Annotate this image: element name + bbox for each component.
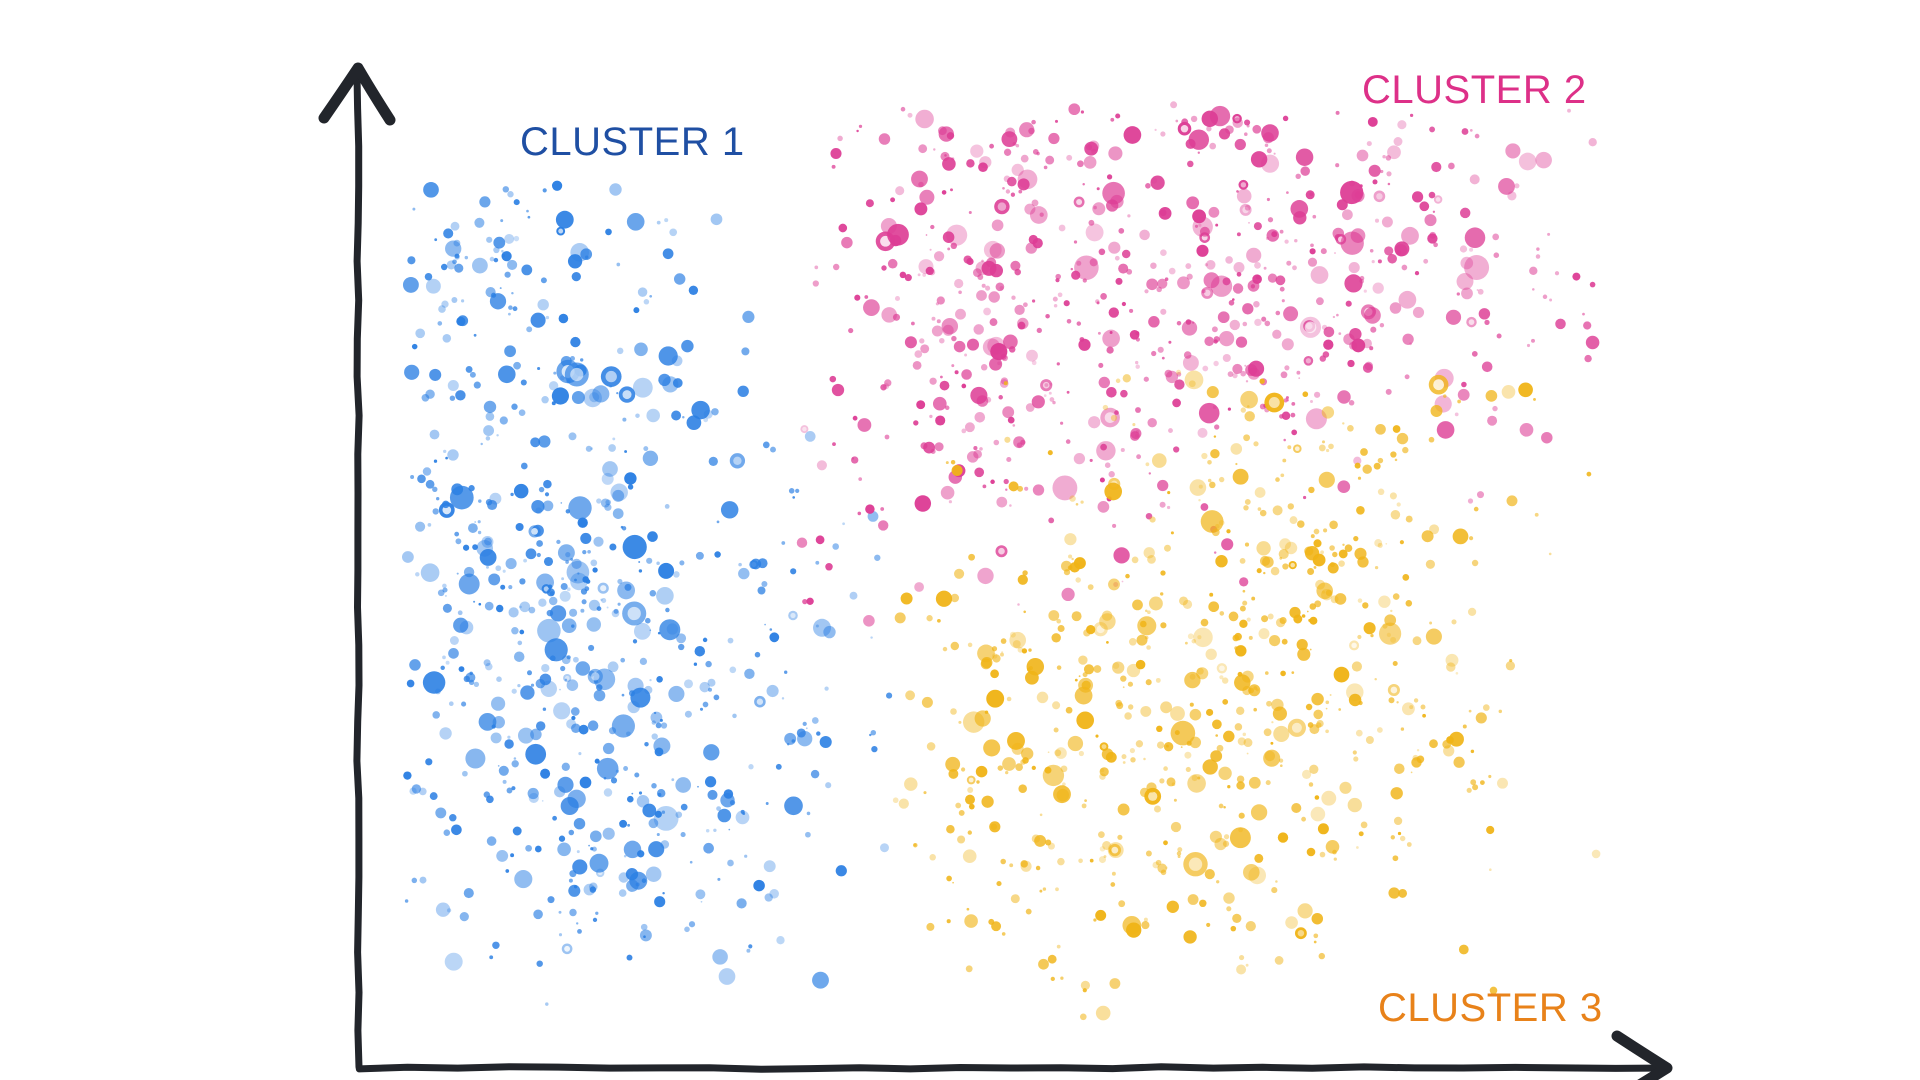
data-point-highlight xyxy=(998,202,1006,210)
data-point xyxy=(1150,262,1156,268)
data-point xyxy=(1297,639,1308,650)
data-point xyxy=(578,752,581,755)
data-point xyxy=(641,924,648,931)
data-point xyxy=(870,636,872,638)
data-point-highlight xyxy=(1295,446,1300,451)
data-point xyxy=(1494,252,1500,258)
data-point xyxy=(1095,910,1106,921)
data-point-satellite xyxy=(1396,701,1398,703)
data-point-highlight xyxy=(570,368,583,381)
data-point-satellite xyxy=(939,338,944,343)
data-point xyxy=(1307,568,1314,575)
data-point xyxy=(1127,664,1140,677)
data-point xyxy=(556,211,574,229)
data-point xyxy=(1422,714,1426,718)
data-point xyxy=(519,630,524,635)
data-point xyxy=(970,144,983,157)
data-point xyxy=(1000,859,1006,865)
cluster-2-label: CLUSTER 2 xyxy=(1362,68,1587,113)
data-point xyxy=(1206,709,1213,716)
data-point-satellite xyxy=(858,512,862,516)
data-point-satellite xyxy=(587,550,591,554)
data-point xyxy=(1448,163,1455,170)
data-point xyxy=(1470,779,1476,785)
data-point xyxy=(1382,623,1387,628)
data-point xyxy=(1038,959,1049,970)
data-point xyxy=(977,274,983,280)
data-point xyxy=(572,272,581,281)
data-point xyxy=(1078,655,1087,664)
data-point xyxy=(832,384,844,396)
data-point xyxy=(929,854,935,860)
data-point xyxy=(415,522,425,532)
data-point xyxy=(988,291,999,302)
data-point xyxy=(1157,480,1168,491)
data-point xyxy=(1209,207,1220,218)
data-point xyxy=(1220,611,1225,616)
data-point xyxy=(1179,596,1188,605)
data-point xyxy=(1212,719,1222,729)
data-point-highlight xyxy=(1292,723,1302,733)
data-point xyxy=(1106,346,1113,353)
data-point xyxy=(1100,477,1105,482)
data-point xyxy=(659,346,678,365)
data-point xyxy=(1233,283,1243,293)
data-point xyxy=(1225,256,1233,264)
data-point xyxy=(1132,600,1143,611)
data-point xyxy=(1219,128,1230,139)
data-point-highlight xyxy=(1469,319,1475,325)
data-point xyxy=(806,598,813,605)
data-point xyxy=(441,301,448,308)
data-point xyxy=(678,644,684,650)
data-point xyxy=(1321,248,1327,254)
data-point-satellite xyxy=(940,376,943,379)
data-point xyxy=(1005,771,1008,774)
data-point-satellite xyxy=(649,679,651,681)
data-point-highlight xyxy=(1391,687,1398,694)
data-point xyxy=(1048,955,1057,964)
data-point xyxy=(584,884,596,896)
data-point xyxy=(407,256,415,264)
data-point xyxy=(1239,813,1245,819)
data-point xyxy=(1095,735,1098,738)
data-point xyxy=(973,450,982,459)
data-point-satellite xyxy=(926,234,928,236)
data-point xyxy=(1275,477,1280,482)
data-point xyxy=(992,646,997,651)
data-point xyxy=(505,869,509,873)
data-point-satellite xyxy=(1248,222,1250,224)
data-point xyxy=(519,601,530,612)
data-point xyxy=(904,777,917,790)
data-point xyxy=(1296,371,1300,375)
data-point-satellite xyxy=(1463,725,1467,729)
data-point-satellite xyxy=(1242,601,1247,606)
data-point xyxy=(562,655,571,664)
data-point xyxy=(1364,362,1373,371)
data-point xyxy=(1244,411,1254,421)
data-point-satellite xyxy=(1000,653,1004,657)
data-point xyxy=(1273,505,1283,515)
data-point xyxy=(1390,302,1402,314)
data-point xyxy=(1086,144,1092,150)
data-point xyxy=(513,827,522,836)
data-point-satellite xyxy=(795,489,799,493)
data-point xyxy=(1033,238,1043,248)
data-point-satellite xyxy=(1126,269,1132,275)
data-point xyxy=(472,258,488,274)
data-point-satellite xyxy=(1433,211,1435,213)
data-point xyxy=(1108,578,1120,590)
data-point xyxy=(976,780,979,783)
data-point xyxy=(1132,423,1135,426)
data-point xyxy=(1144,918,1148,922)
data-point xyxy=(965,795,975,805)
data-point xyxy=(1130,748,1135,753)
data-point xyxy=(1370,327,1376,333)
data-point xyxy=(1161,870,1167,876)
data-point xyxy=(1484,320,1489,325)
data-point xyxy=(435,807,446,818)
data-point xyxy=(763,442,770,449)
data-point xyxy=(1106,387,1117,398)
data-point xyxy=(1017,318,1028,329)
data-point xyxy=(1255,487,1266,498)
data-point xyxy=(746,949,750,953)
data-point xyxy=(1266,701,1272,707)
data-point-satellite xyxy=(1314,529,1320,535)
data-point-satellite xyxy=(1032,360,1037,365)
data-point xyxy=(1002,757,1016,771)
data-point xyxy=(1157,741,1164,748)
data-point xyxy=(508,585,512,589)
data-point xyxy=(1366,736,1374,744)
data-point-satellite xyxy=(1056,619,1061,624)
data-point xyxy=(646,558,652,564)
data-point-satellite xyxy=(445,595,447,597)
data-point xyxy=(624,584,631,591)
data-point xyxy=(813,619,831,637)
data-point xyxy=(1372,260,1375,263)
data-point xyxy=(1355,463,1361,469)
data-point xyxy=(559,911,562,914)
data-point xyxy=(1290,516,1298,524)
data-point xyxy=(517,641,522,646)
data-point xyxy=(1144,289,1148,293)
data-point-highlight xyxy=(531,528,538,535)
data-point xyxy=(634,342,648,356)
data-point xyxy=(642,804,656,818)
data-point xyxy=(510,493,513,496)
data-point xyxy=(496,434,498,436)
data-point xyxy=(901,593,913,605)
data-point xyxy=(900,272,907,279)
data-point xyxy=(1244,119,1250,125)
data-point xyxy=(1378,596,1390,608)
data-point-satellite xyxy=(1050,397,1055,402)
data-point xyxy=(1017,603,1020,606)
data-point xyxy=(485,602,494,611)
data-point xyxy=(617,348,623,354)
data-point xyxy=(675,777,691,793)
data-point xyxy=(1160,622,1166,628)
data-point-satellite xyxy=(1313,933,1318,938)
data-point-satellite xyxy=(474,521,476,523)
data-point-satellite xyxy=(1224,834,1229,839)
data-point xyxy=(1018,178,1030,190)
data-point-highlight xyxy=(1305,321,1317,333)
data-point xyxy=(458,610,463,615)
data-point xyxy=(540,674,552,686)
data-point xyxy=(1032,395,1045,408)
data-point-satellite xyxy=(1167,506,1170,509)
data-point xyxy=(758,587,766,595)
data-point xyxy=(565,552,570,557)
data-point xyxy=(1402,265,1408,271)
data-point-satellite xyxy=(1263,572,1265,574)
data-point xyxy=(1261,155,1279,173)
data-point xyxy=(813,280,819,286)
data-point xyxy=(628,484,633,489)
data-point xyxy=(935,415,945,425)
data-point xyxy=(1160,131,1165,136)
data-point xyxy=(1398,889,1407,898)
data-point xyxy=(890,235,901,246)
data-point-satellite xyxy=(983,485,987,489)
data-point xyxy=(608,661,619,672)
data-point-satellite xyxy=(1387,633,1391,637)
data-point xyxy=(1164,545,1171,552)
data-point xyxy=(990,318,998,326)
data-point xyxy=(1265,671,1269,675)
data-point xyxy=(881,307,897,323)
data-point xyxy=(466,366,473,373)
data-point xyxy=(552,181,562,191)
data-point xyxy=(587,617,601,631)
data-point xyxy=(942,190,947,195)
data-point xyxy=(947,247,950,250)
data-point xyxy=(854,295,860,301)
data-point-satellite xyxy=(982,284,986,288)
data-point xyxy=(1338,560,1345,567)
data-point xyxy=(605,499,611,505)
data-point xyxy=(624,841,641,858)
data-point xyxy=(1175,120,1178,123)
data-point xyxy=(1149,472,1151,474)
data-point xyxy=(1357,635,1361,639)
data-point xyxy=(535,846,542,853)
data-point xyxy=(1081,981,1090,990)
data-point xyxy=(1419,201,1429,211)
data-point xyxy=(454,240,461,247)
data-point xyxy=(1356,506,1365,515)
data-point xyxy=(1039,890,1042,893)
data-point xyxy=(1204,272,1220,288)
data-point xyxy=(1008,417,1015,424)
data-point xyxy=(496,850,508,862)
data-point-satellite xyxy=(806,727,808,729)
data-point-satellite xyxy=(462,771,468,777)
data-point-satellite xyxy=(507,736,510,739)
data-point-satellite xyxy=(1443,394,1446,397)
data-point xyxy=(776,764,782,770)
data-point xyxy=(658,563,674,579)
data-point xyxy=(640,929,652,941)
data-point xyxy=(951,243,957,249)
data-point-satellite xyxy=(1470,129,1473,132)
data-point xyxy=(901,107,906,112)
data-point xyxy=(1361,822,1368,829)
data-point-highlight xyxy=(628,607,641,620)
data-point xyxy=(969,804,975,810)
data-point xyxy=(1472,784,1478,790)
data-point-satellite xyxy=(1488,775,1491,778)
data-point xyxy=(552,816,557,821)
data-point xyxy=(1111,415,1117,421)
data-point xyxy=(1097,187,1100,190)
data-point xyxy=(981,657,992,668)
data-point-satellite xyxy=(1100,846,1105,851)
data-point-satellite xyxy=(706,829,709,832)
data-point xyxy=(1254,222,1262,230)
data-point-satellite xyxy=(1527,344,1530,347)
data-point xyxy=(1007,177,1017,187)
data-point xyxy=(1374,463,1381,470)
data-point xyxy=(1402,702,1415,715)
data-point xyxy=(517,684,520,687)
data-point-satellite xyxy=(1280,287,1285,292)
data-point xyxy=(1455,413,1459,417)
data-point xyxy=(1057,858,1065,866)
data-point xyxy=(1192,209,1206,223)
data-point-satellite xyxy=(542,800,544,802)
data-point xyxy=(425,389,434,398)
data-point xyxy=(1066,707,1073,714)
data-point xyxy=(1335,163,1339,167)
data-point xyxy=(1074,240,1077,243)
data-point xyxy=(1357,150,1369,162)
data-point-satellite xyxy=(1268,614,1274,620)
data-point xyxy=(1034,835,1046,847)
data-point xyxy=(741,347,749,355)
data-point xyxy=(919,190,934,205)
data-point-satellite xyxy=(871,730,876,735)
data-point xyxy=(881,265,886,270)
data-point-satellite xyxy=(1178,855,1181,858)
data-point xyxy=(1231,443,1243,455)
data-point xyxy=(1339,782,1351,794)
data-point xyxy=(1154,806,1161,813)
data-point xyxy=(525,845,532,852)
data-point xyxy=(824,686,828,690)
data-point xyxy=(955,309,966,320)
data-point xyxy=(525,744,546,765)
data-point-satellite xyxy=(1253,441,1258,446)
data-point xyxy=(1461,382,1467,388)
data-point xyxy=(1185,642,1188,645)
data-point xyxy=(1486,390,1498,402)
cluster-1-label: CLUSTER 1 xyxy=(520,120,745,165)
data-point xyxy=(1298,903,1313,918)
data-point xyxy=(767,685,779,697)
data-point xyxy=(1279,414,1284,419)
data-point xyxy=(1382,217,1393,228)
data-point xyxy=(1088,584,1094,590)
data-point xyxy=(1280,617,1287,624)
data-point xyxy=(915,110,934,129)
data-point-satellite xyxy=(1123,686,1125,688)
data-point xyxy=(552,401,556,405)
data-point xyxy=(1246,248,1261,263)
data-point xyxy=(622,694,625,697)
data-point xyxy=(1502,385,1516,399)
data-point xyxy=(561,797,579,815)
data-point xyxy=(1011,894,1020,903)
data-point xyxy=(533,910,543,920)
data-point xyxy=(905,690,915,700)
data-point xyxy=(1328,563,1339,574)
data-point xyxy=(1533,398,1536,401)
data-point xyxy=(1059,225,1066,232)
data-point xyxy=(1045,156,1054,165)
data-point xyxy=(1353,750,1357,754)
data-point xyxy=(1406,600,1413,607)
data-point xyxy=(1078,339,1090,351)
data-point xyxy=(1393,425,1401,433)
data-point xyxy=(1236,965,1246,975)
data-point xyxy=(926,923,934,931)
data-point xyxy=(1196,245,1208,257)
data-point-satellite xyxy=(1333,316,1335,318)
data-point xyxy=(402,551,414,563)
data-point xyxy=(1141,921,1149,929)
data-point xyxy=(1374,678,1376,680)
data-point-satellite xyxy=(664,218,668,222)
data-point-satellite xyxy=(1334,857,1337,860)
data-point-satellite xyxy=(1135,434,1138,437)
data-point xyxy=(1338,708,1341,711)
data-point xyxy=(1378,489,1385,496)
data-point-satellite xyxy=(1017,486,1023,492)
data-point xyxy=(1589,138,1597,146)
data-point xyxy=(673,571,680,578)
data-point xyxy=(1329,520,1338,529)
data-point-satellite xyxy=(951,157,954,160)
data-point xyxy=(996,497,1007,508)
data-point xyxy=(1315,795,1320,800)
data-point-satellite xyxy=(1091,149,1097,155)
data-point xyxy=(990,480,995,485)
data-point xyxy=(1362,602,1368,608)
data-point xyxy=(755,652,761,658)
data-point xyxy=(634,773,639,778)
data-point xyxy=(645,618,651,624)
data-point xyxy=(549,381,558,390)
data-point xyxy=(951,336,956,341)
data-point xyxy=(1386,389,1392,395)
data-point xyxy=(1296,148,1313,165)
data-point-satellite xyxy=(1198,152,1200,154)
data-point xyxy=(1351,338,1365,352)
data-point xyxy=(1497,334,1502,339)
data-point xyxy=(1219,331,1234,346)
data-point-satellite xyxy=(1071,268,1073,270)
data-point xyxy=(537,367,540,370)
data-point xyxy=(1186,196,1199,209)
data-point-satellite xyxy=(1235,463,1237,465)
data-point xyxy=(1058,625,1065,632)
